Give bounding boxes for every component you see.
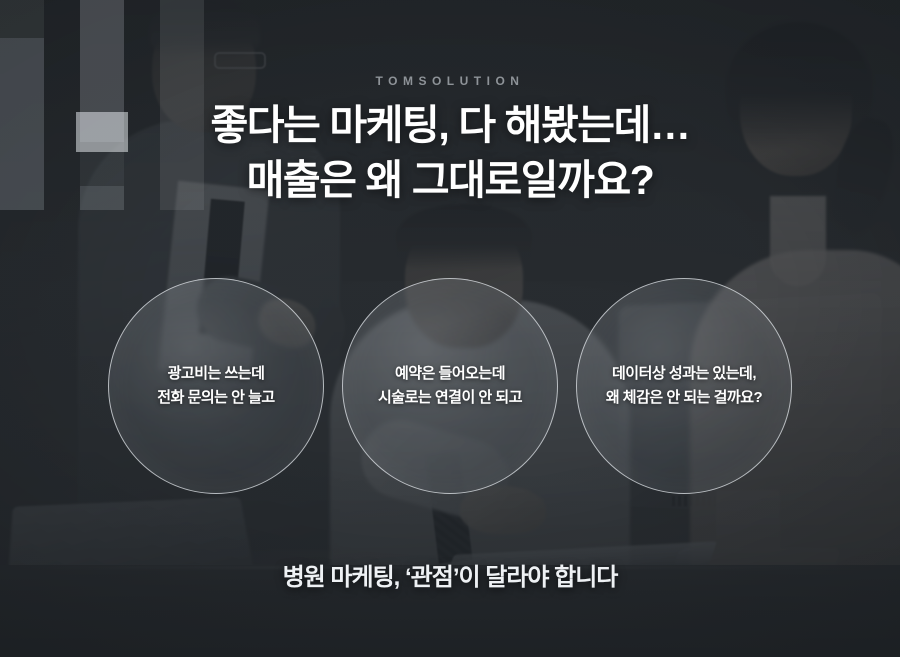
brand-eyebrow: TOMSOLUTION: [0, 74, 900, 88]
circle-1-line-1: 광고비는 쓰는데: [168, 362, 265, 386]
headline-line-2: 매출은 왜 그대로일까요?: [0, 153, 900, 208]
tagline: 병원 마케팅, ‘관점’이 달라야 합니다: [0, 557, 900, 592]
hero-banner: TOMSOLUTION 좋다는 마케팅, 다 해봤는데… 매출은 왜 그대로일까…: [0, 0, 900, 657]
circle-2-line-2: 시술로는 연결이 안 되고: [378, 386, 522, 410]
page-title: 좋다는 마케팅, 다 해봤는데… 매출은 왜 그대로일까요?: [0, 98, 900, 207]
headline-line-1: 좋다는 마케팅, 다 해봤는데…: [210, 102, 689, 148]
circle-3-line-2: 왜 체감은 안 되는 걸까요?: [606, 386, 762, 410]
circle-data-result[interactable]: 데이터상 성과는 있는데, 왜 체감은 안 되는 걸까요?: [576, 278, 792, 494]
pain-point-circle-group: 광고비는 쓰는데 전화 문의는 안 늘고 예약은 들어오는데 시술로는 연결이 …: [0, 278, 900, 494]
circle-1-line-2: 전화 문의는 안 늘고: [157, 386, 274, 410]
circle-2-line-1: 예약은 들어오는데: [395, 362, 505, 386]
circle-ad-spend[interactable]: 광고비는 쓰는데 전화 문의는 안 늘고: [108, 278, 324, 494]
circle-reservation[interactable]: 예약은 들어오는데 시술로는 연결이 안 되고: [342, 278, 558, 494]
hero-content: TOMSOLUTION 좋다는 마케팅, 다 해봤는데… 매출은 왜 그대로일까…: [0, 0, 900, 657]
circle-3-line-1: 데이터상 성과는 있는데,: [612, 362, 756, 386]
